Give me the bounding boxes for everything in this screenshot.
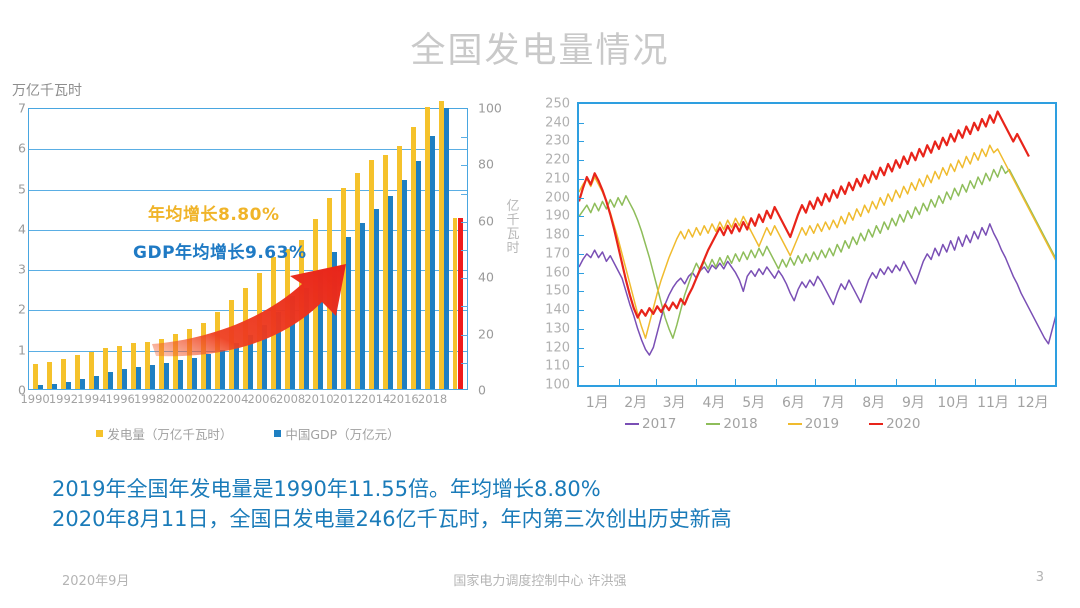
bar-power	[33, 364, 38, 389]
x-tick	[896, 379, 897, 386]
x-tick-label: 12月	[1017, 392, 1049, 412]
y-tick-label: 190	[522, 209, 570, 224]
legend-swatch-icon	[274, 430, 281, 437]
bar-gdp	[94, 376, 99, 389]
bar-gdp	[444, 108, 449, 389]
x-tick-label: 5月	[742, 392, 765, 412]
bar-power	[173, 334, 178, 389]
bar-gdp	[52, 384, 57, 389]
bar-group	[353, 109, 367, 389]
bar-gdp	[248, 335, 253, 389]
x-tick	[815, 379, 816, 386]
legend-line-icon	[625, 423, 639, 426]
x-tick-label: 2006	[248, 392, 277, 406]
bar-gdp	[164, 363, 169, 389]
x-tick-label: 9月	[902, 392, 925, 412]
annotation-gdp-growth: GDP年均增长9.63%	[133, 238, 307, 263]
bar-power	[215, 312, 220, 389]
bar-group	[325, 109, 339, 389]
bar-power	[383, 155, 388, 389]
y-tick-label: 220	[522, 153, 570, 168]
bar-gdp	[150, 365, 155, 389]
bar-group	[409, 109, 423, 389]
x-tick-label: 1998	[134, 392, 163, 406]
y2-tick	[461, 165, 468, 166]
bar-group	[31, 109, 45, 389]
line-series-2020	[579, 111, 1029, 317]
bar-power	[243, 288, 248, 389]
bar-power	[229, 300, 234, 389]
bar-group	[381, 109, 395, 389]
legend-label: 2020	[886, 416, 920, 432]
bar-gdp	[80, 379, 85, 389]
bar-gdp	[66, 382, 71, 389]
bar-group	[339, 109, 353, 389]
bar-gdp	[374, 209, 379, 389]
x-tick-label: 1994	[77, 392, 106, 406]
legend-item: 发电量（万亿千瓦时）	[96, 424, 232, 443]
bar-power	[159, 339, 164, 389]
bar-gdp	[38, 385, 43, 389]
y-tick	[578, 348, 584, 349]
x-tick-label: 6月	[782, 392, 805, 412]
x-tick	[776, 379, 777, 386]
footer-organization: 国家电力调度控制中心 许洪强	[0, 570, 1080, 589]
legend-label: 发电量（万亿千瓦时）	[107, 424, 232, 443]
y-tick	[578, 141, 584, 142]
bar-power	[327, 198, 332, 389]
y-tick-label: 5	[6, 181, 26, 196]
bar-gdp	[332, 252, 337, 389]
right-chart-plot-area	[577, 102, 1057, 387]
bar-power	[285, 249, 290, 389]
x-tick-label: 3月	[663, 392, 686, 412]
bar-power	[411, 127, 416, 389]
bar-gdp	[318, 271, 323, 389]
y-tick-label: 230	[522, 134, 570, 149]
bar-group	[367, 109, 381, 389]
y-tick	[578, 179, 584, 180]
bar-gdp	[416, 161, 421, 389]
bar-power	[47, 362, 52, 389]
y-tick	[578, 254, 584, 255]
bar-power	[89, 352, 94, 389]
x-tick-label: 11月	[977, 392, 1009, 412]
bar-group	[311, 109, 325, 389]
x-tick-label: 2010	[304, 392, 333, 406]
x-tick-label: 2016	[389, 392, 418, 406]
y-tick-label: 130	[522, 321, 570, 336]
x-tick	[975, 379, 976, 386]
left-chart-unit-label: 万亿千瓦时	[12, 80, 82, 100]
x-tick	[696, 379, 697, 386]
bar-gdp	[430, 136, 435, 389]
y-tick-label: 170	[522, 246, 570, 261]
x-tick-label: 4月	[702, 392, 725, 412]
right-chart-daily-generation: 亿千瓦时 10011012013014015016017018019020021…	[500, 80, 1080, 455]
y2-tick	[461, 222, 468, 223]
bar-power	[397, 146, 402, 389]
x-tick-label: 2014	[361, 392, 390, 406]
bar-power	[145, 342, 150, 389]
bar-gdp	[108, 372, 113, 389]
x-tick	[1015, 379, 1016, 386]
bar-group	[87, 109, 101, 389]
y-tick	[578, 235, 584, 236]
bar-power	[61, 359, 66, 389]
x-tick-label: 2008	[276, 392, 305, 406]
y-tick-label: 120	[522, 340, 570, 355]
bar-gdp	[304, 288, 309, 389]
bar-gdp	[178, 360, 183, 389]
bar-group	[437, 109, 451, 389]
bar-gdp	[234, 343, 239, 389]
y-tick-label: 3	[6, 262, 26, 277]
bar-gdp	[276, 312, 281, 389]
footer: 2020年9月 国家电力调度控制中心 许洪强 3	[0, 570, 1080, 592]
x-tick-label: 10月	[937, 392, 969, 412]
bar-group	[115, 109, 129, 389]
right-chart-legend: 2017201820192020	[625, 416, 920, 432]
bar-gdp	[206, 354, 211, 389]
bar-power	[187, 329, 192, 389]
x-tick-label: 2000	[162, 392, 191, 406]
footer-page-number: 3	[1036, 570, 1044, 585]
bar-power	[425, 107, 430, 389]
x-tick-label: 1992	[49, 392, 78, 406]
summary-text: 2019年全国年发电量是1990年11.55倍。年均增长8.80% 2020年8…	[52, 474, 1012, 534]
summary-line-1: 2019年全国年发电量是1990年11.55倍。年均增长8.80%	[52, 474, 1012, 504]
left-chart-power-gdp: 万亿千瓦时 01234567 020406080100 199019921994…	[0, 80, 500, 455]
y2-minor-tick	[461, 250, 468, 251]
x-tick-label: 2004	[219, 392, 248, 406]
y-tick-label: 180	[522, 228, 570, 243]
bar-power	[369, 160, 374, 389]
legend-label: 2019	[805, 416, 839, 432]
right-chart-lines	[579, 104, 1055, 385]
y-tick-label: 250	[522, 97, 570, 112]
legend-label: 2018	[723, 416, 757, 432]
y-tick	[578, 329, 584, 330]
legend-line-icon	[788, 423, 802, 426]
legend-item: 2019	[788, 416, 839, 432]
bar-gdp	[192, 358, 197, 389]
x-tick-label: 1月	[586, 392, 609, 412]
bar-power	[75, 355, 80, 389]
line-series-2017	[579, 224, 1055, 355]
y-tick	[578, 160, 584, 161]
y-tick	[578, 216, 584, 217]
bar-group	[45, 109, 59, 389]
y-tick	[578, 291, 584, 292]
y-tick-label: 100	[522, 378, 570, 393]
y-tick-label: 210	[522, 171, 570, 186]
bar-power	[439, 101, 444, 389]
y-tick-label: 110	[522, 359, 570, 374]
bar-power	[271, 257, 276, 389]
x-tick	[619, 379, 620, 386]
y-tick	[578, 273, 584, 274]
legend-item: 中国GDP（万亿元）	[274, 424, 399, 443]
bar-power	[103, 348, 108, 389]
summary-line-2: 2020年8月11日，全国日发电量246亿千瓦时，年内第三次创出历史新高	[52, 504, 1012, 534]
page-title: 全国发电量情况	[0, 22, 1080, 73]
x-tick-label: 2018	[418, 392, 447, 406]
bar-power	[257, 273, 262, 389]
left-chart-x-axis-labels: 1990199219941996199820002002200420062008…	[28, 392, 468, 410]
bar-group	[451, 109, 465, 389]
y-tick-label: 6	[6, 141, 26, 156]
y-tick-label: 4	[6, 221, 26, 236]
legend-label: 2017	[642, 416, 676, 432]
y2-minor-tick	[461, 306, 468, 307]
bar-power	[131, 343, 136, 389]
y-tick	[578, 198, 584, 199]
x-tick-label: 1990	[20, 392, 49, 406]
bar-group	[395, 109, 409, 389]
bar-gdp	[402, 180, 407, 389]
left-chart-legend: 发电量（万亿千瓦时）中国GDP（万亿元）	[28, 424, 468, 443]
y-tick-label: 1	[6, 342, 26, 357]
legend-item: 2017	[625, 416, 676, 432]
x-tick-label: 2002	[191, 392, 220, 406]
y-tick-label: 240	[522, 115, 570, 130]
bar-group	[423, 109, 437, 389]
x-tick-label: 2012	[333, 392, 362, 406]
bar-power	[355, 173, 360, 389]
x-tick-label: 2月	[624, 392, 647, 412]
annotation-power-growth: 年均增长8.80%	[148, 200, 279, 225]
legend-label: 中国GDP（万亿元）	[285, 424, 399, 443]
y2-minor-tick	[461, 363, 468, 364]
bar-gdp	[262, 325, 267, 389]
bar-gdp	[346, 237, 351, 389]
bar-power	[201, 323, 206, 389]
legend-swatch-icon	[96, 430, 103, 437]
y-tick	[578, 123, 584, 124]
x-tick-label: 8月	[862, 392, 885, 412]
y-tick	[578, 366, 584, 367]
bar-group	[59, 109, 73, 389]
y-tick-label: 150	[522, 284, 570, 299]
bar-gdp	[220, 350, 225, 389]
y-tick-label: 2	[6, 302, 26, 317]
y2-tick	[461, 335, 468, 336]
bar-gdp	[290, 296, 295, 389]
y-tick-label: 7	[6, 101, 26, 116]
y2-minor-tick	[461, 194, 468, 195]
bar-power	[117, 346, 122, 390]
bar-gdp	[122, 369, 127, 389]
y-tick-label: 160	[522, 265, 570, 280]
legend-line-icon	[706, 423, 720, 426]
x-tick-label: 7月	[822, 392, 845, 412]
bar-group	[73, 109, 87, 389]
bar-power	[453, 218, 458, 389]
bar-gdp	[388, 196, 393, 389]
legend-line-icon	[869, 423, 883, 426]
bar-gdp	[360, 223, 365, 389]
legend-item: 2020	[869, 416, 920, 432]
y-tick-label: 140	[522, 303, 570, 318]
y2-tick	[461, 278, 468, 279]
x-tick	[656, 379, 657, 386]
x-tick-label: 1996	[106, 392, 135, 406]
bar-gdp	[136, 367, 141, 389]
y-tick	[578, 310, 584, 311]
bar-power	[341, 188, 346, 389]
right-chart-unit-label: 亿千瓦时	[505, 200, 521, 256]
legend-item: 2018	[706, 416, 757, 432]
y2-minor-tick	[461, 137, 468, 138]
bar-power	[313, 219, 318, 389]
bar-group	[101, 109, 115, 389]
x-tick	[855, 379, 856, 386]
x-tick	[935, 379, 936, 386]
line-series-2018	[579, 166, 1055, 338]
y-tick-label: 200	[522, 190, 570, 205]
x-tick	[735, 379, 736, 386]
